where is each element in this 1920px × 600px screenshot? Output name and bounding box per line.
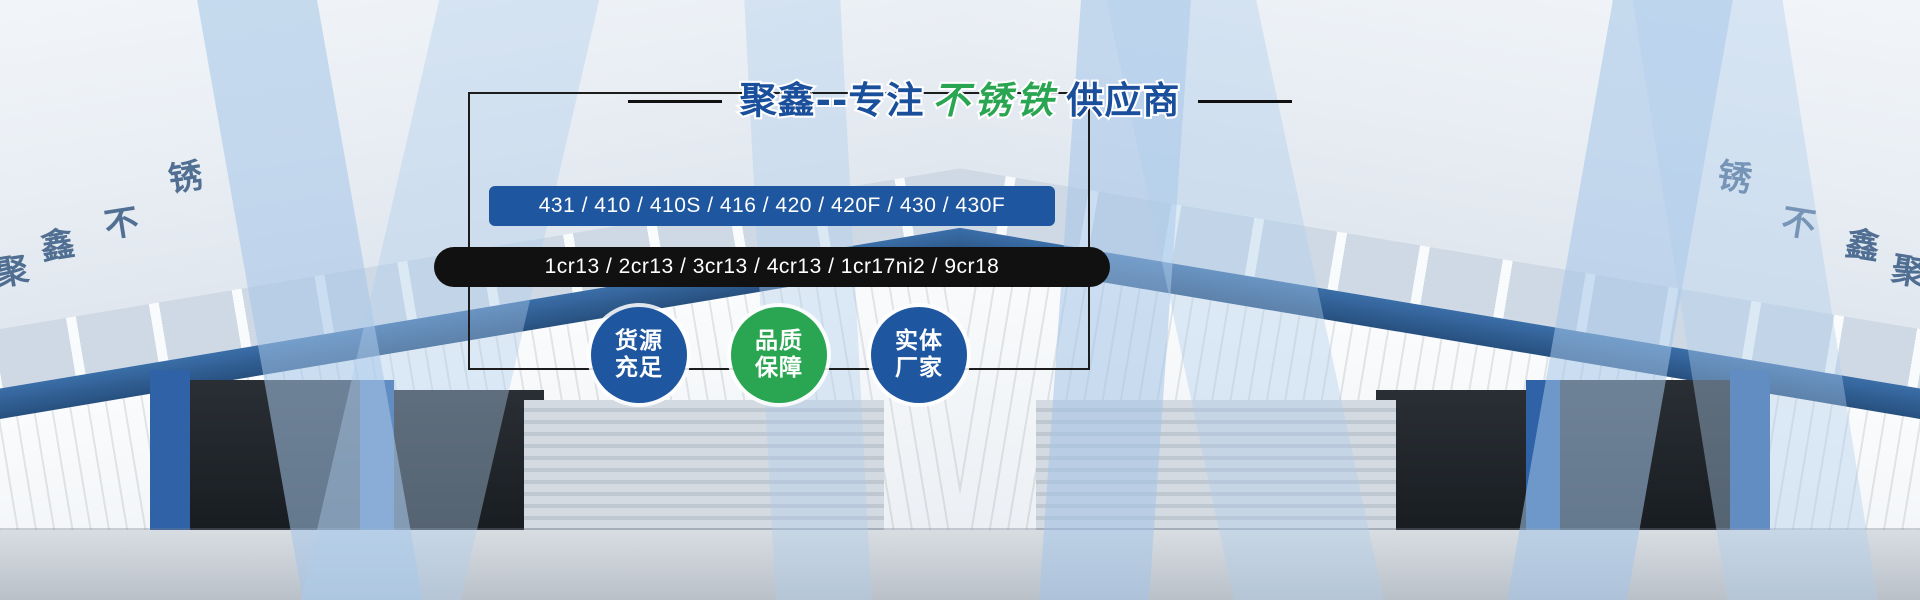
headline: 聚鑫--专注 不锈铁 供应商 bbox=[0, 75, 1920, 127]
headline-tail: 供应商 bbox=[1066, 79, 1180, 123]
badge-line-1: 货源 bbox=[615, 328, 663, 355]
badge-line-2: 保障 bbox=[755, 355, 803, 382]
badge-line-2: 充足 bbox=[615, 355, 663, 382]
badge-line-1: 实体 bbox=[895, 328, 943, 355]
grade-bar-secondary: 1cr13 / 2cr13 / 3cr13 / 4cr13 / 1cr17ni2… bbox=[434, 247, 1110, 287]
badge-line-1: 品质 bbox=[755, 328, 803, 355]
headline-emphasis: 不锈铁 bbox=[924, 79, 1066, 123]
badge-quality: 品质 保障 bbox=[731, 307, 827, 403]
banner-content: 聚鑫--专注 不锈铁 供应商 431 / 410 / 410S / 416 / … bbox=[0, 0, 1920, 600]
headline-lead: 聚鑫--专注 bbox=[740, 79, 925, 123]
headline-rule-right bbox=[1198, 100, 1292, 103]
promo-banner: 锈 不 鑫 聚 锈 不 鑫 聚 bbox=[0, 0, 1920, 600]
badge-line-2: 厂家 bbox=[895, 355, 943, 382]
badge-factory: 实体 厂家 bbox=[871, 307, 967, 403]
grade-bar-primary: 431 / 410 / 410S / 416 / 420 / 420F / 43… bbox=[489, 186, 1055, 226]
headline-rule-left bbox=[628, 100, 722, 103]
badge-supply: 货源 充足 bbox=[591, 307, 687, 403]
badge-group: 货源 充足 品质 保障 实体 厂家 bbox=[468, 305, 1090, 405]
